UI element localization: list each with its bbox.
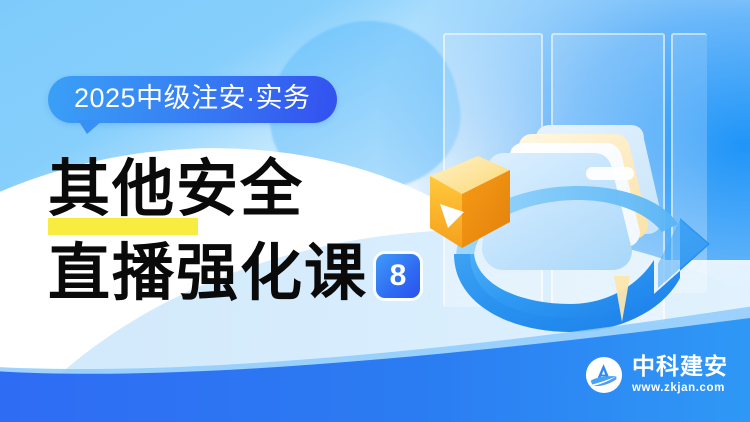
page-title: 其他安全 直播强化课 8 [48,156,468,308]
title-line-2-wrap: 直播强化课 8 [48,238,468,308]
course-banner: 2025中级注安·实务 其他安全 直播强化课 8 中科建安 www.zkjan.… [0,0,750,422]
brand-name: 中科建安 [632,356,728,379]
title-line-1-wrap: 其他安全 [48,156,468,222]
title-line-1: 其他安全 [48,152,304,225]
brand-logo[interactable]: 中科建安 www.zkjan.com [585,356,728,395]
course-tag[interactable]: 2025中级注安·实务 [48,76,337,123]
brand-logo-text: 中科建安 www.zkjan.com [632,356,728,395]
course-tag-label[interactable]: 2025中级注安·实务 [48,76,337,123]
title-line-2: 直播强化课 [48,240,368,306]
zkjan-circle-logo-icon [585,356,623,394]
course-tag-tail [78,120,103,134]
brand-url: www.zkjan.com [632,383,728,395]
episode-badge: 8 [376,254,420,298]
